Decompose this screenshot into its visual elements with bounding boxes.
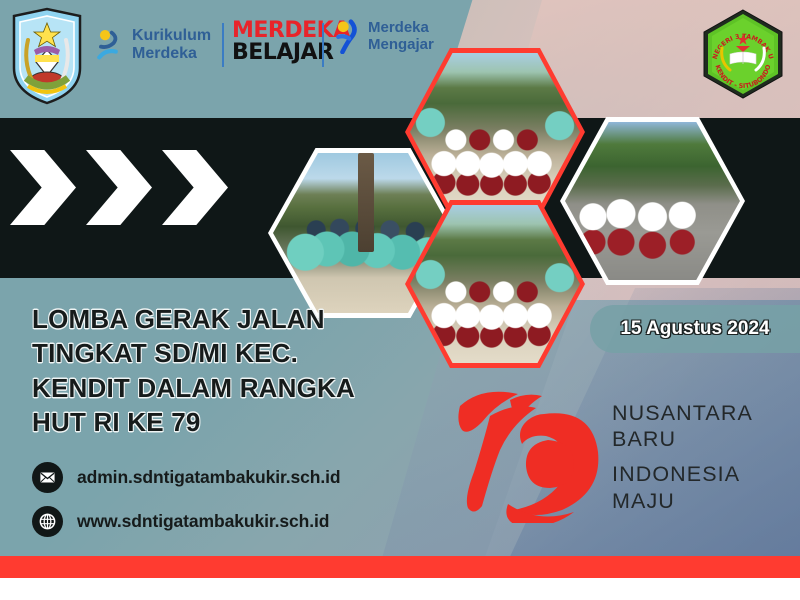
logo-divider <box>222 23 224 67</box>
globe-icon <box>32 506 63 537</box>
jawa-timur-province-emblem <box>8 6 86 106</box>
contact-row-email: admin.sdntigatambakukir.sch.id <box>32 462 452 493</box>
contact-row-website: www.sdntigatambakukir.sch.id <box>32 506 452 537</box>
tagline-line-3: INDONESIA <box>612 461 753 487</box>
mm-line1: Merdeka <box>368 19 434 36</box>
tagline-line-2: BARU <box>612 426 753 452</box>
hut-ri-79-logo <box>452 378 607 523</box>
mb-line1: MERDEKA <box>232 20 350 42</box>
contact-email-text: admin.sdntigatambakukir.sch.id <box>77 467 340 488</box>
title-line-1: LOMBA GERAK JALAN <box>32 302 424 336</box>
bottom-stripe-white <box>0 578 800 600</box>
poster-canvas: Kurikulum Merdeka MERDEKA BELAJAR Merdek… <box>0 0 800 600</box>
mb-line2: BELAJAR <box>232 42 350 64</box>
tagline-line-4: MAJU <box>612 488 753 514</box>
chevron-right-icon <box>162 150 228 225</box>
tagline-line-1: NUSANTARA <box>612 400 753 426</box>
contact-website-text: www.sdntigatambakukir.sch.id <box>77 511 329 532</box>
merdeka-mengajar-icon <box>334 18 361 54</box>
hut-ri-tagline: NUSANTARA BARU INDONESIA MAJU <box>612 400 753 514</box>
date-badge-text: 15 Agustus 2024 <box>620 318 769 340</box>
photo-parade-march-image <box>565 122 740 280</box>
title-line-3: KENDIT DALAM RANGKA <box>32 371 424 405</box>
km-line1: Kurikulum <box>132 27 211 45</box>
date-badge: 15 Agustus 2024 <box>590 305 800 353</box>
chevron-group <box>10 150 228 225</box>
km-line2: Merdeka <box>132 45 211 63</box>
logo-divider <box>322 23 324 67</box>
sd-negeri-3-tambak-ukir-logo: SD NEGERI 3 TAMBAK UKIR KENDIT - SITUBON… <box>700 8 786 100</box>
logo-merdeka-mengajar: Merdeka Mengajar <box>334 18 434 54</box>
contact-list: admin.sdntigatambakukir.sch.id www.sdnti… <box>32 462 452 550</box>
chevron-right-icon <box>10 150 76 225</box>
title-line-2: TINGKAT SD/MI KEC. <box>32 336 424 370</box>
title-line-4: HUT RI KE 79 <box>32 405 424 439</box>
logo-kurikulum-merdeka: Kurikulum Merdeka <box>96 18 211 72</box>
merdeka-mengajar-label: Merdeka Mengajar <box>368 19 434 53</box>
mm-line2: Mengajar <box>368 36 434 53</box>
photo-students-group-bottom-image <box>410 205 580 363</box>
kurikulum-merdeka-label: Kurikulum Merdeka <box>132 27 211 63</box>
email-icon <box>32 462 63 493</box>
logo-merdeka-belajar: MERDEKA BELAJAR <box>232 20 350 64</box>
kurikulum-merdeka-icon <box>96 28 124 62</box>
bottom-stripe-red <box>0 556 800 578</box>
photo-students-group-top-image <box>410 53 580 211</box>
chevron-right-icon <box>86 150 152 225</box>
page-title: LOMBA GERAK JALAN TINGKAT SD/MI KEC. KEN… <box>32 302 424 439</box>
